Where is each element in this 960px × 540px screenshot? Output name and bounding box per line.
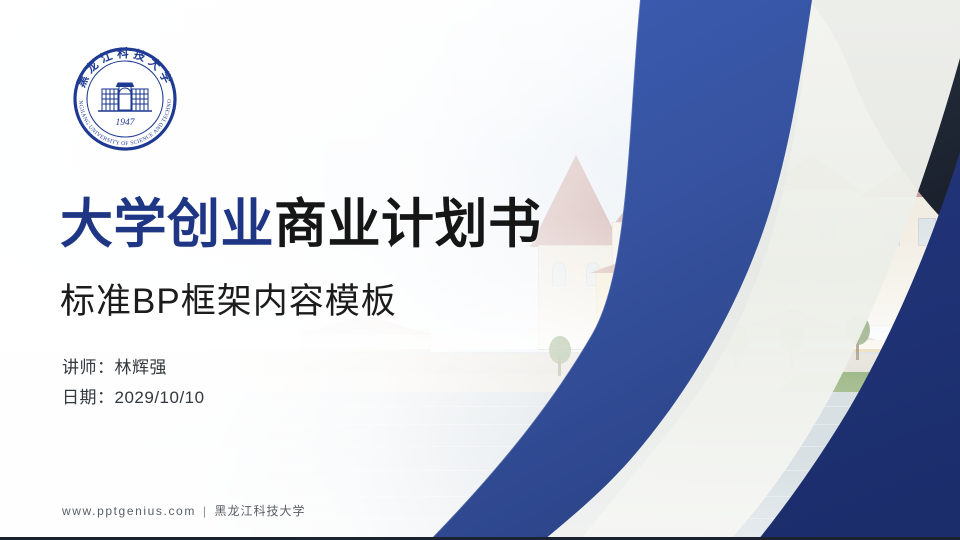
date-row: 日期：2029/10/10 <box>62 383 205 413</box>
seal-founding-year: 1947 <box>116 118 136 128</box>
footer-website[interactable]: www.pptgenius.com <box>62 504 196 518</box>
university-seal-svg: 黑龙江科技大学 HEILONGJIANG UNIVERSITY OF SCIEN… <box>62 36 188 162</box>
slide-footer: www.pptgenius.com|黑龙江科技大学 <box>62 502 305 519</box>
presenter-name: 林辉强 <box>115 358 168 377</box>
presentation-meta: 讲师：林辉强 日期：2029/10/10 <box>62 353 205 413</box>
university-logo: 黑龙江科技大学 HEILONGJIANG UNIVERSITY OF SCIEN… <box>62 36 188 162</box>
page-title: 大学创业商业计划书 <box>60 196 542 253</box>
date-value: 2029/10/10 <box>115 388 205 407</box>
presenter-row: 讲师：林辉强 <box>62 353 205 383</box>
footer-organization: 黑龙江科技大学 <box>214 504 305 518</box>
presentation-slide: 黑龙江科技大学 HEILONGJIANG UNIVERSITY OF SCIEN… <box>0 0 960 540</box>
footer-separator: | <box>203 504 208 518</box>
date-label: 日期： <box>62 388 115 407</box>
title-part-blue: 大学创业 <box>60 195 274 254</box>
page-subtitle: 标准BP框架内容模板 <box>60 273 397 324</box>
title-part-dark: 商业计划书 <box>274 195 542 254</box>
presenter-label: 讲师： <box>62 358 115 377</box>
